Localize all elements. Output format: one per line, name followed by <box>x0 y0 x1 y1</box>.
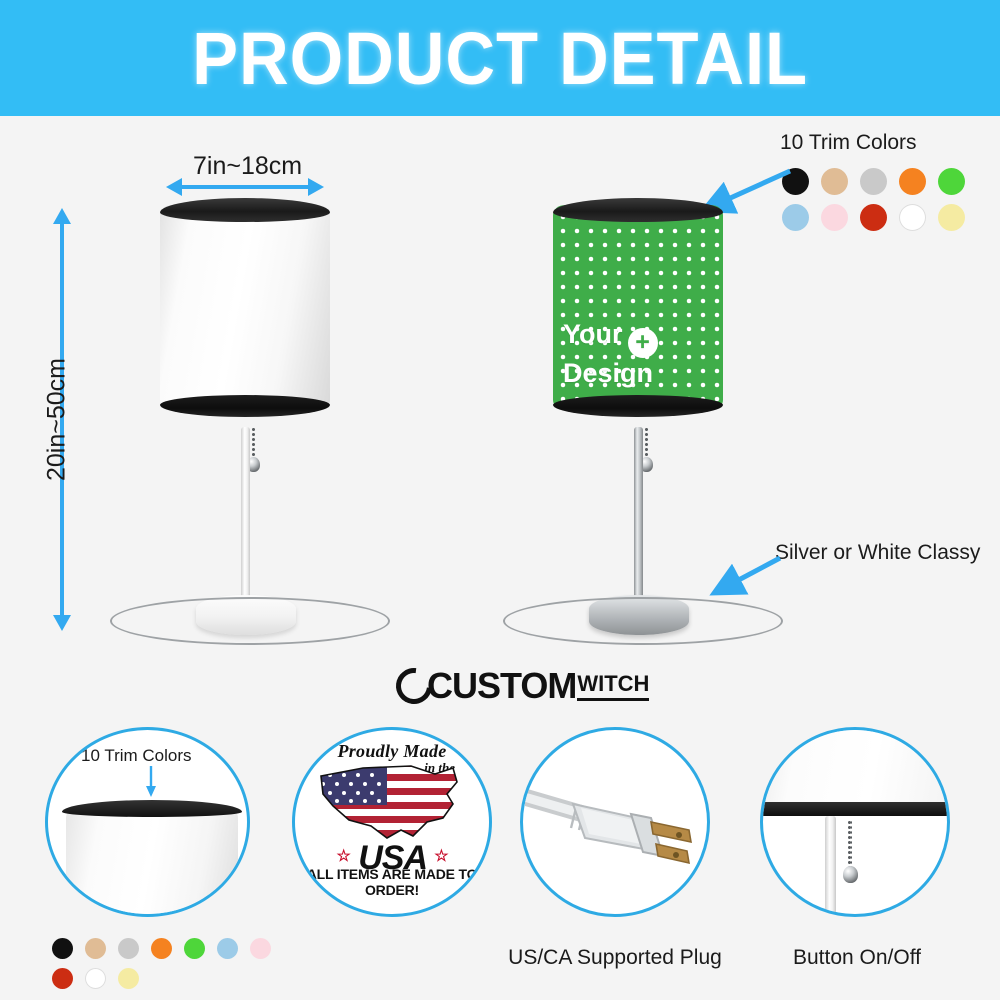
shade-closeup-body <box>66 808 238 917</box>
plus-icon[interactable]: + <box>628 328 658 358</box>
swatch-gray[interactable] <box>860 168 887 195</box>
swatch-orange[interactable] <box>151 938 172 959</box>
arrow-down-icon <box>143 766 159 798</box>
trim-colors-label-top: 10 Trim Colors <box>780 131 917 155</box>
logo-main-text: CUSTOM <box>427 665 576 707</box>
power-plug-icon <box>525 752 710 902</box>
arrow-diagonal-icon-2 <box>700 552 790 604</box>
shade-trim-top-green <box>553 198 723 222</box>
lamp-pole-white <box>241 427 250 607</box>
usa-line-1: Proudly Made <box>295 741 489 762</box>
pull-chain-ball-closeup[interactable] <box>843 866 858 883</box>
trim-colors-label-bottom: 10 Trim Colors <box>81 746 192 766</box>
swatch-tan[interactable] <box>821 168 848 195</box>
swatch-green[interactable] <box>938 168 965 195</box>
panel-trim-colors: 10 Trim Colors <box>45 727 250 917</box>
your-design-text: Your+ Design <box>563 319 715 388</box>
swatch-yellow[interactable] <box>938 204 965 231</box>
page-title: PRODUCT DETAIL <box>192 16 808 101</box>
usa-star-right: ☆ <box>434 848 447 865</box>
lampshade-white <box>160 205 330 410</box>
swatch-pink[interactable] <box>821 204 848 231</box>
trim-color-swatches-bottom[interactable] <box>52 938 302 998</box>
shade-closeup-trim-2 <box>760 802 950 816</box>
usa-footer-text: ALL ITEMS ARE MADE TO ORDER! <box>295 866 489 898</box>
shade-body-green: Your+ Design <box>553 205 723 410</box>
swatch-green[interactable] <box>184 938 205 959</box>
pull-chain-closeup[interactable] <box>848 820 852 870</box>
swatch-red[interactable] <box>52 968 73 989</box>
pull-chain[interactable] <box>252 427 255 461</box>
button-label: Button On/Off <box>762 946 952 970</box>
usa-star-left: ☆ <box>336 848 349 865</box>
plug-label: US/CA Supported Plug <box>505 946 725 970</box>
swatch-white[interactable] <box>85 968 106 989</box>
lamp-pole-closeup <box>825 816 836 917</box>
header-banner: PRODUCT DETAIL <box>0 0 1000 116</box>
power-cord-ring-silver <box>503 597 783 645</box>
swatch-gray[interactable] <box>118 938 139 959</box>
swatch-tan[interactable] <box>85 938 106 959</box>
width-dimension-label: 7in~18cm <box>193 152 302 181</box>
shade-closeup-body-2 <box>760 727 950 808</box>
logo-sub-text: WITCH <box>577 671 649 701</box>
power-cord-ring-white <box>110 597 390 645</box>
shade-closeup-trim <box>62 800 242 817</box>
swatch-light-blue[interactable] <box>217 938 238 959</box>
trim-color-swatches-top[interactable] <box>782 168 1000 240</box>
swatch-orange[interactable] <box>899 168 926 195</box>
swatch-black[interactable] <box>52 938 73 959</box>
shade-trim-top <box>160 198 330 222</box>
shade-trim-bottom <box>160 395 330 417</box>
brand-logo: CUSTOM WITCH <box>396 665 649 707</box>
base-finish-label: Silver or White Classy <box>775 541 980 565</box>
height-dimension-label: 20in~50cm <box>43 355 72 485</box>
width-dimension-arrow <box>180 185 310 189</box>
design-line-1: Your <box>563 319 623 349</box>
swatch-pink[interactable] <box>250 938 271 959</box>
shade-body-white <box>160 205 330 410</box>
shade-trim-bottom-green <box>553 395 723 417</box>
swatch-yellow[interactable] <box>118 968 139 989</box>
panel-button <box>760 727 950 917</box>
pull-chain-green[interactable] <box>645 427 648 461</box>
product-detail-page: PRODUCT DETAIL 10 Trim Colors 7in~18cm 2… <box>0 0 1000 1000</box>
panel-usa-badge: Proudly Made in the <box>292 727 492 917</box>
lampshade-green: Your+ Design <box>553 205 723 410</box>
design-line-2: Design <box>563 358 653 388</box>
lamp-pole-silver <box>634 427 643 607</box>
panel-plug <box>520 727 710 917</box>
lamp-white <box>160 205 340 645</box>
swatch-red[interactable] <box>860 204 887 231</box>
swatch-white[interactable] <box>899 204 926 231</box>
